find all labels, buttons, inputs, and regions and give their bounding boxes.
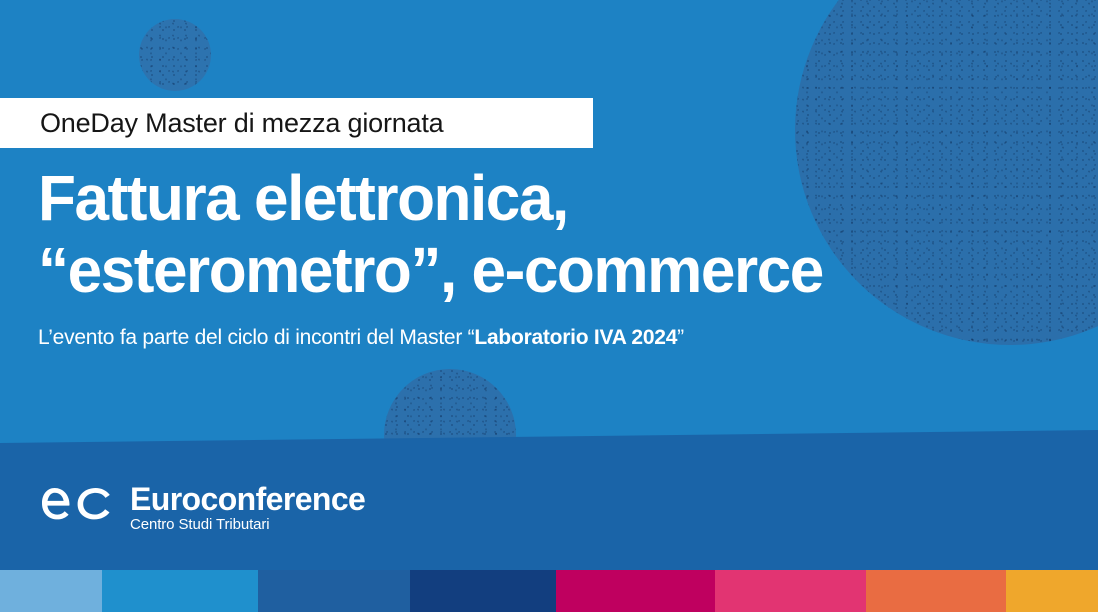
promotional-banner: OneDay Master di mezza giornata Fattura …	[0, 0, 1098, 612]
subtitle-lead: L’evento fa parte del ciclo di incontri …	[38, 326, 474, 349]
stripe-segment-navy-blue	[410, 570, 556, 612]
stripe-segment-cyan-blue	[102, 570, 258, 612]
color-stripe	[0, 570, 1098, 612]
stripe-segment-pink	[715, 570, 866, 612]
subtitle-trail: ”	[677, 326, 684, 349]
headline-line-2: “esterometro”, e-commerce	[38, 234, 1027, 306]
stripe-segment-orange	[866, 570, 1006, 612]
stripe-segment-magenta	[556, 570, 715, 612]
subtitle: L’evento fa parte del ciclo di incontri …	[38, 326, 684, 350]
page-title: Fattura elettronica, “esterometro”, e-co…	[38, 162, 1058, 306]
eyebrow-box: OneDay Master di mezza giornata	[0, 98, 593, 148]
stripe-segment-light-blue	[0, 570, 102, 612]
ec-monogram-icon	[42, 482, 116, 534]
stripe-segment-steel-blue	[258, 570, 410, 612]
subtitle-strong: Laboratorio IVA 2024	[474, 326, 677, 349]
headline-line-1: Fattura elettronica,	[38, 162, 1027, 234]
background-circle-small-icon	[139, 19, 211, 91]
brand-logo: Euroconference Centro Studi Tributari	[42, 482, 365, 534]
logo-name: Euroconference	[130, 482, 365, 516]
stripe-segment-yellow	[1006, 570, 1098, 612]
logo-text: Euroconference Centro Studi Tributari	[130, 482, 365, 534]
eyebrow-label: OneDay Master di mezza giornata	[0, 108, 443, 139]
logo-tagline: Centro Studi Tributari	[130, 516, 365, 534]
